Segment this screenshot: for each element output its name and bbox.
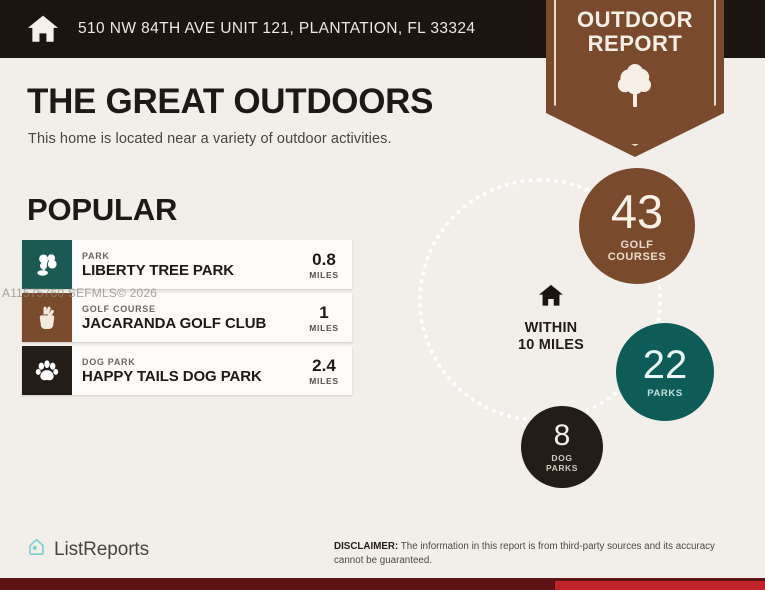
distance-unit: MILES xyxy=(309,270,338,280)
dial-center: WITHIN 10 MILES xyxy=(496,282,606,354)
listreports-logo-text: ListReports xyxy=(54,539,149,561)
list-item[interactable]: DOG PARK HAPPY TAILS DOG PARK 2.4 MILES xyxy=(22,346,352,395)
stat-value: 8 xyxy=(554,421,571,451)
disclaimer: DISCLAIMER: The information in this repo… xyxy=(334,540,734,568)
section-heading-popular: POPULAR xyxy=(27,192,177,228)
stat-circle-golf-courses[interactable]: 43 GOLF COURSES xyxy=(579,168,695,284)
stat-value: 43 xyxy=(611,188,663,235)
badge-title-line1: OUTDOOR xyxy=(546,8,724,32)
badge-title-line2: REPORT xyxy=(546,32,724,56)
property-address: 510 NW 84TH AVE UNIT 121, PLANTATION, FL… xyxy=(78,20,475,38)
paw-icon xyxy=(22,346,72,395)
stat-label: GOLF COURSES xyxy=(608,240,667,264)
list-item-category: PARK xyxy=(82,251,296,261)
list-item-distance: 1 MILES xyxy=(296,293,352,342)
park-tree-icon xyxy=(22,240,72,289)
list-item-name: LIBERTY TREE PARK xyxy=(82,262,296,279)
list-item[interactable]: PARK LIBERTY TREE PARK 0.8 MILES xyxy=(22,240,352,289)
list-item-category: DOG PARK xyxy=(82,357,296,367)
list-item-name: JACARANDA GOLF CLUB xyxy=(82,315,296,332)
distance-unit: MILES xyxy=(309,376,338,386)
list-item-text: PARK LIBERTY TREE PARK xyxy=(72,240,296,289)
stat-circle-parks[interactable]: 22 PARKS xyxy=(616,323,714,421)
mls-watermark: A11575760 SEFMLS© 2026 xyxy=(2,286,157,300)
list-item-distance: 2.4 MILES xyxy=(296,346,352,395)
outdoor-stats-dial: WITHIN 10 MILES 43 GOLF COURSES 22 PARKS… xyxy=(418,178,748,508)
listreports-house-icon xyxy=(26,536,47,563)
dial-center-line2: 10 MILES xyxy=(518,337,584,354)
stat-label-line2: PARKS xyxy=(546,464,578,473)
listreports-logo[interactable]: ListReports xyxy=(26,536,149,563)
badge-title: OUTDOOR REPORT xyxy=(546,8,724,55)
page-subtitle: This home is located near a variety of o… xyxy=(28,131,392,147)
tree-icon xyxy=(546,62,724,115)
list-item[interactable]: GOLF COURSE JACARANDA GOLF CLUB 1 MILES xyxy=(22,293,352,342)
distance-unit: MILES xyxy=(309,323,338,333)
house-icon xyxy=(536,282,566,314)
stat-label: PARKS xyxy=(647,389,683,399)
stat-value: 22 xyxy=(643,345,688,385)
list-item-text: DOG PARK HAPPY TAILS DOG PARK xyxy=(72,346,296,395)
dial-center-line1: WITHIN xyxy=(518,320,584,337)
distance-value: 1 xyxy=(319,303,328,323)
dial-center-text: WITHIN 10 MILES xyxy=(518,320,584,354)
house-icon xyxy=(22,8,64,50)
distance-value: 0.8 xyxy=(312,250,336,270)
popular-list: PARK LIBERTY TREE PARK 0.8 MILES GOLF CO… xyxy=(22,240,352,399)
stat-circle-dog-parks[interactable]: 8 DOG PARKS xyxy=(521,406,603,488)
distance-value: 2.4 xyxy=(312,356,336,376)
disclaimer-label: DISCLAIMER: xyxy=(334,541,398,552)
list-item-text: GOLF COURSE JACARANDA GOLF CLUB xyxy=(72,293,296,342)
stat-label-line2: COURSES xyxy=(608,252,667,264)
page-title: THE GREAT OUTDOORS xyxy=(27,82,433,122)
golf-icon xyxy=(22,293,72,342)
stat-label: DOG PARKS xyxy=(546,454,578,472)
list-item-category: GOLF COURSE xyxy=(82,304,296,314)
bottom-bar-accent xyxy=(555,581,765,590)
list-item-distance: 0.8 MILES xyxy=(296,240,352,289)
list-item-name: HAPPY TAILS DOG PARK xyxy=(82,368,296,385)
